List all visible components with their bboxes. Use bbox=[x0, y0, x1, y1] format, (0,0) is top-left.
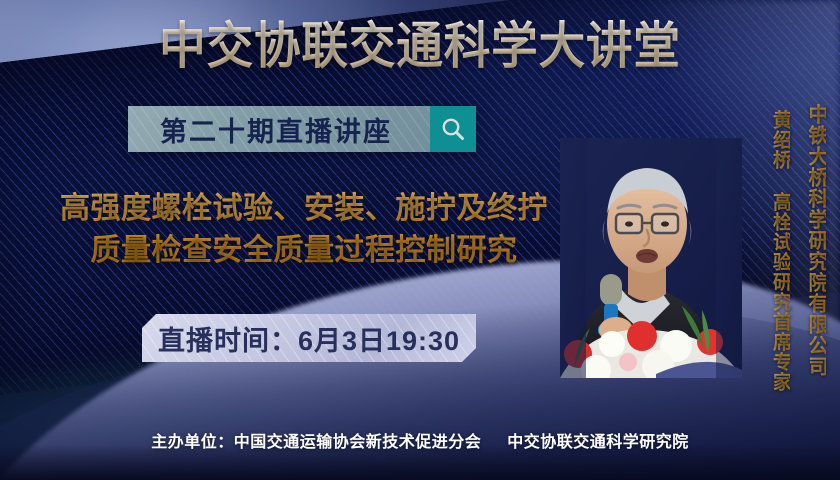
speaker-name-caption: 黄绍桥 高栓试验研究首席专家 bbox=[770, 110, 790, 392]
organizer-prefix: 主办单位： bbox=[151, 434, 234, 451]
search-icon bbox=[440, 116, 466, 142]
organizer-footer: 主办单位：中国交通运输协会新技术促进分会中交协联交通科学研究院 bbox=[0, 428, 840, 452]
lecture-subject-line2: 质量检查安全质量过程控制研究 bbox=[8, 230, 600, 272]
livestream-poster: 中交协联交通科学大讲堂 第二十期直播讲座 高强度螺栓试验、安装、施拧及终拧 质量… bbox=[0, 0, 840, 480]
episode-label: 第二十期直播讲座 bbox=[128, 106, 430, 152]
speaker-company-caption: 中铁大桥科学研究院有限公司 bbox=[805, 104, 826, 377]
organizer-org-1: 中国交通运输协会新技术促进分会 bbox=[234, 434, 482, 451]
organizer-org-2: 中交协联交通科学研究院 bbox=[507, 434, 689, 451]
live-time-badge: 直播时间：6月3日19:30 bbox=[142, 314, 476, 362]
lecture-subject-line1: 高强度螺栓试验、安装、施拧及终拧 bbox=[60, 192, 548, 225]
episode-search-bar[interactable]: 第二十期直播讲座 bbox=[128, 106, 476, 152]
live-time-text: 直播时间：6月3日19:30 bbox=[158, 319, 460, 358]
page-title: 中交协联交通科学大讲堂 bbox=[29, 18, 810, 74]
search-button[interactable] bbox=[430, 106, 476, 152]
lecture-subject: 高强度螺栓试验、安装、施拧及终拧 质量检查安全质量过程控制研究 bbox=[8, 188, 600, 272]
